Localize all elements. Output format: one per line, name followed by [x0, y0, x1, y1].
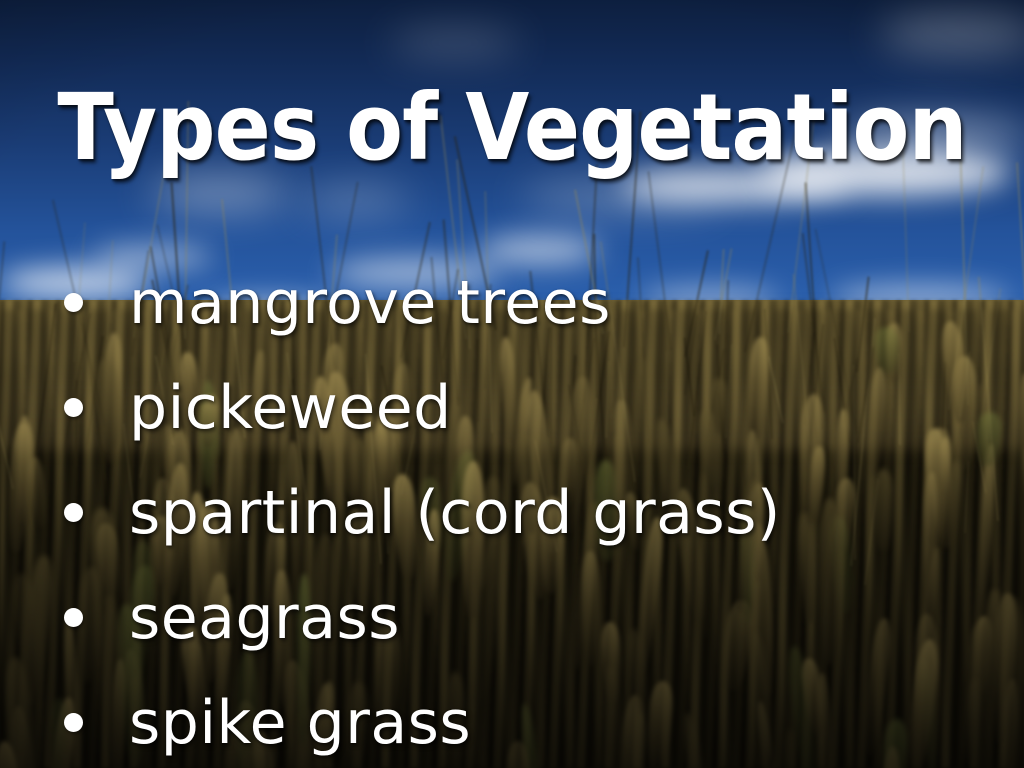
bullet-label: spike grass [129, 693, 471, 753]
bullet-item: mangrove trees [64, 250, 1004, 355]
bullet-list: mangrove treespickeweedspartinal (cord g… [64, 250, 1004, 768]
bullet-label: seagrass [129, 588, 400, 648]
bullet-dot-icon [64, 398, 83, 417]
presentation-slide: Types of Vegetation mangrove treespickew… [0, 0, 1024, 768]
bullet-dot-icon [64, 293, 83, 312]
bullet-dot-icon [64, 713, 83, 732]
bullet-item: spartinal (cord grass) [64, 460, 1004, 565]
bullet-item: pickeweed [64, 355, 1004, 460]
bullet-item: spike grass [64, 670, 1004, 768]
bullet-dot-icon [64, 503, 83, 522]
bullet-label: mangrove trees [129, 273, 611, 333]
bullet-dot-icon [64, 608, 83, 627]
slide-title: Types of Vegetation [51, 78, 973, 177]
bullet-item: seagrass [64, 565, 1004, 670]
bullet-label: pickeweed [129, 378, 452, 438]
bullet-label: spartinal (cord grass) [129, 483, 781, 543]
